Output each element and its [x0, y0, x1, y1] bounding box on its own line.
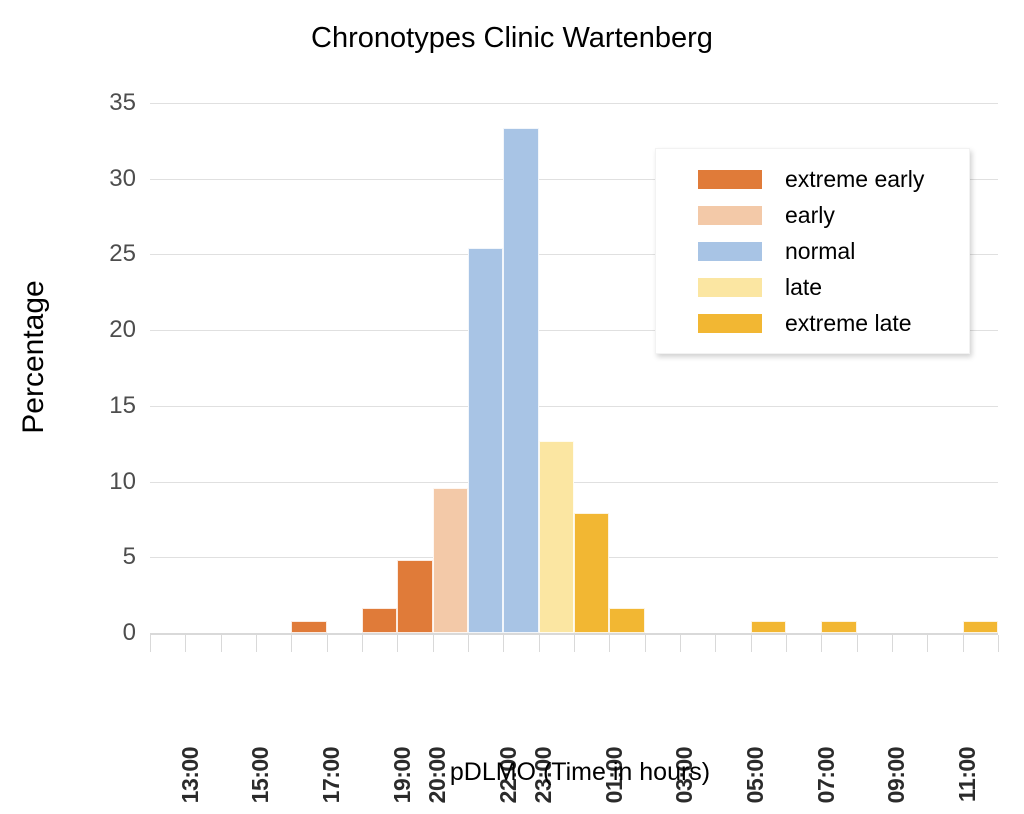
- bar: [963, 621, 998, 633]
- bar: [821, 621, 856, 633]
- x-tick: [786, 635, 787, 652]
- legend-swatch-icon: [698, 170, 762, 189]
- bar: [433, 488, 468, 633]
- gridline: [150, 482, 998, 483]
- x-tick: [503, 635, 504, 652]
- chart-title: Chronotypes Clinic Wartenberg: [0, 22, 1024, 55]
- x-tick: [150, 635, 151, 652]
- bar: [468, 248, 503, 633]
- y-axis-tick-labels: 05101520253035: [60, 103, 136, 633]
- x-tick: [539, 635, 540, 652]
- y-tick-label: 15: [60, 392, 136, 420]
- bar: [503, 128, 538, 633]
- x-tick: [963, 635, 964, 652]
- x-tick: [256, 635, 257, 652]
- gridline: [150, 406, 998, 407]
- x-tick: [433, 635, 434, 652]
- bar: [397, 560, 432, 633]
- bar: [609, 608, 644, 633]
- y-tick-label: 25: [60, 240, 136, 268]
- x-tick: [362, 635, 363, 652]
- bar: [751, 621, 786, 633]
- x-tick: [291, 635, 292, 652]
- gridline: [150, 103, 998, 104]
- y-tick-label: 35: [60, 89, 136, 117]
- x-tick: [892, 635, 893, 652]
- x-tick: [574, 635, 575, 652]
- x-tick: [680, 635, 681, 652]
- x-tick: [927, 635, 928, 652]
- x-axis-ticks: [150, 635, 1000, 653]
- legend-swatch-icon: [698, 278, 762, 297]
- legend-item[interactable]: normal: [656, 233, 969, 269]
- legend-label: normal: [785, 238, 855, 265]
- legend-swatch-icon: [698, 206, 762, 225]
- bar: [362, 608, 397, 633]
- legend-item[interactable]: late: [656, 269, 969, 305]
- legend-item[interactable]: extreme late: [656, 305, 969, 341]
- legend-label: extreme late: [785, 310, 912, 337]
- x-axis-tick-labels: 13:0015:0017:0019:0020:0022:0023:0001:00…: [150, 655, 1000, 750]
- x-tick: [609, 635, 610, 652]
- x-tick: [715, 635, 716, 652]
- y-tick-label: 30: [60, 165, 136, 193]
- legend-swatch-icon: [698, 242, 762, 261]
- x-tick: [857, 635, 858, 652]
- x-tick: [185, 635, 186, 652]
- x-tick: [221, 635, 222, 652]
- legend-label: late: [785, 274, 822, 301]
- chart-legend: extreme earlyearlynormallateextreme late: [655, 148, 970, 354]
- x-tick: [327, 635, 328, 652]
- legend-item[interactable]: early: [656, 197, 969, 233]
- x-axis-title: pDLMO (Time in hours): [150, 758, 1010, 787]
- y-axis-title: Percentage: [17, 247, 51, 467]
- legend-label: extreme early: [785, 166, 924, 193]
- chart-container: Chronotypes Clinic Wartenberg Percentage…: [0, 0, 1024, 814]
- x-tick: [998, 635, 999, 652]
- y-tick-label: 5: [60, 543, 136, 571]
- x-tick: [468, 635, 469, 652]
- legend-label: early: [785, 202, 835, 229]
- y-tick-label: 0: [60, 619, 136, 647]
- y-tick-label: 20: [60, 316, 136, 344]
- bar: [574, 513, 609, 633]
- x-tick: [751, 635, 752, 652]
- x-tick: [645, 635, 646, 652]
- bar: [291, 621, 326, 633]
- bar: [539, 441, 574, 633]
- legend-item[interactable]: extreme early: [656, 161, 969, 197]
- legend-swatch-icon: [698, 314, 762, 333]
- x-tick: [397, 635, 398, 652]
- y-tick-label: 10: [60, 468, 136, 496]
- x-tick: [821, 635, 822, 652]
